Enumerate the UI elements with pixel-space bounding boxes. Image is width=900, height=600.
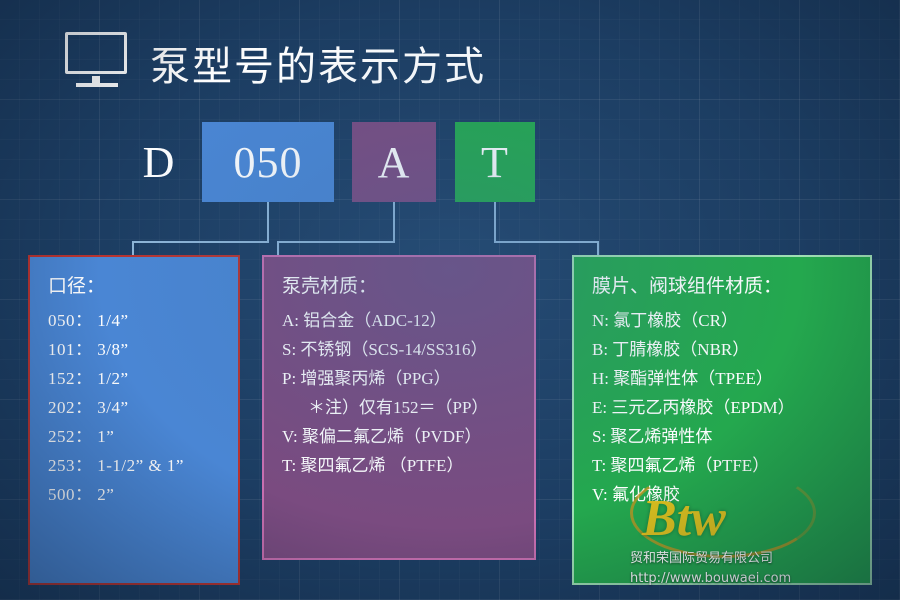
connector-diaphragm-vertical-drop xyxy=(597,241,599,256)
list-item: 253： 1-1/2” & 1” xyxy=(48,451,238,480)
connector-bore-vertical-drop xyxy=(132,241,134,256)
panel-diaphragm-material: 膜片、阀球组件材质： N: 氯丁橡胶（CR） B: 丁腈橡胶（NBR） H: 聚… xyxy=(572,255,872,585)
connector-bore-horizontal xyxy=(132,241,269,243)
panel-bore-title: 口径： xyxy=(30,257,238,298)
panel-diaphragm-list: N: 氯丁橡胶（CR） B: 丁腈橡胶（NBR） H: 聚酯弹性体（TPEE） … xyxy=(574,298,870,509)
list-item: A: 铝合金（ADC-12） xyxy=(282,306,534,335)
list-item: 101： 3/8” xyxy=(48,335,238,364)
panel-shell-title: 泵壳材质： xyxy=(264,257,534,298)
list-item: S: 聚乙烯弹性体 xyxy=(592,422,870,451)
list-item: 202： 3/4” xyxy=(48,393,238,422)
panel-shell-list: A: 铝合金（ADC-12） S: 不锈钢（SCS-14/SS316） P: 增… xyxy=(264,298,534,480)
code-segment-shell: A xyxy=(352,122,436,202)
list-item: V: 聚偏二氟乙烯（PVDF） xyxy=(282,422,534,451)
list-item: 500： 2” xyxy=(48,480,238,509)
panel-bore: 口径： 050： 1/4” 101： 3/8” 152： 1/2” 202： 3… xyxy=(28,255,240,585)
list-item: V: 氟化橡胶 xyxy=(592,480,870,509)
connector-shell-vertical-drop xyxy=(277,241,279,256)
code-segment-bore: 050 xyxy=(202,122,334,202)
connector-bore-vertical-top xyxy=(267,202,269,242)
panel-bore-list: 050： 1/4” 101： 3/8” 152： 1/2” 202： 3/4” … xyxy=(30,298,238,509)
connector-diaphragm-vertical-top xyxy=(494,202,496,242)
list-item: 252： 1” xyxy=(48,422,238,451)
panel-shell-material: 泵壳材质： A: 铝合金（ADC-12） S: 不锈钢（SCS-14/SS316… xyxy=(262,255,536,560)
list-item: P: 增强聚丙烯（PPG） xyxy=(282,364,534,393)
list-item: T: 聚四氟乙烯 （PTFE） xyxy=(282,451,534,480)
list-item: E: 三元乙丙橡胶（EPDM） xyxy=(592,393,870,422)
list-item: H: 聚酯弹性体（TPEE） xyxy=(592,364,870,393)
code-segment-diaphragm: T xyxy=(455,122,535,202)
list-item: N: 氯丁橡胶（CR） xyxy=(592,306,870,335)
page-title: 泵型号的表示方式 xyxy=(150,34,486,92)
monitor-base xyxy=(76,83,118,87)
connector-shell-horizontal xyxy=(277,241,395,243)
list-item: B: 丁腈橡胶（NBR） xyxy=(592,335,870,364)
list-item: 152： 1/2” xyxy=(48,364,238,393)
monitor-icon xyxy=(65,32,131,88)
list-item: T: 聚四氟乙烯（PTFE） xyxy=(592,451,870,480)
connector-shell-vertical-top xyxy=(393,202,395,242)
monitor-screen xyxy=(65,32,127,74)
code-segment-prefix: D xyxy=(130,122,188,202)
monitor-neck xyxy=(92,76,100,83)
connector-diaphragm-horizontal xyxy=(494,241,599,243)
list-item-note: ＊注）仅有152＝（PP） xyxy=(282,393,534,422)
panel-diaphragm-title: 膜片、阀球组件材质： xyxy=(574,257,870,298)
list-item: 050： 1/4” xyxy=(48,306,238,335)
list-item: S: 不锈钢（SCS-14/SS316） xyxy=(282,335,534,364)
